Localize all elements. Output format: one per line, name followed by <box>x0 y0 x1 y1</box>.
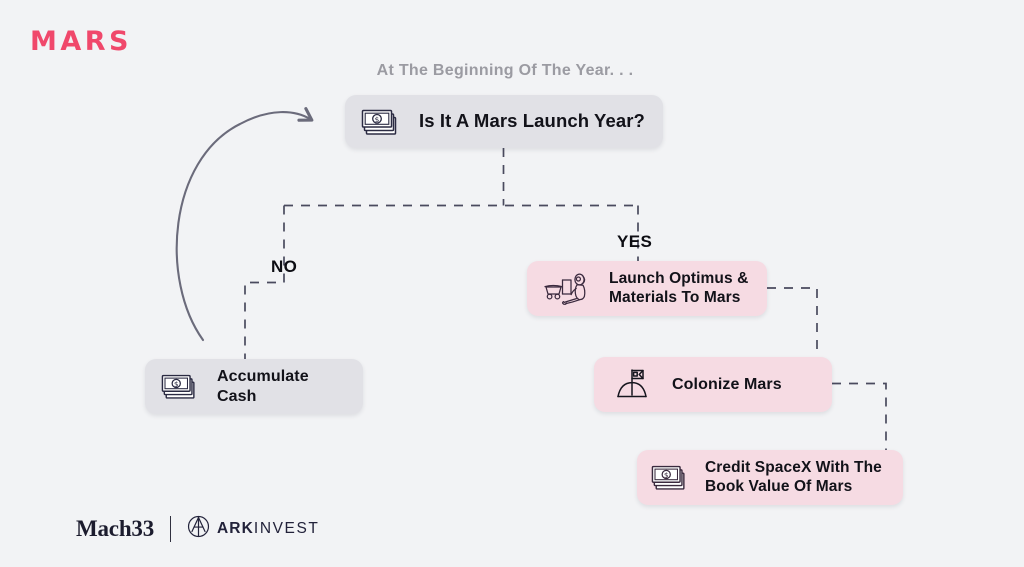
cash-stack-icon: $ <box>651 462 691 493</box>
node-label: Credit SpaceX With The Book Value Of Mar… <box>705 459 882 497</box>
footer-divider <box>170 516 171 542</box>
node-label: Accumulate Cash <box>217 367 347 406</box>
node-label: Launch Optimus & Materials To Mars <box>609 270 748 308</box>
diagram-canvas: MARS At The Beginning Of The Year. . . <box>0 0 1024 567</box>
brand-title: MARS <box>30 26 132 57</box>
node-accumulate-cash[interactable]: $ Accumulate Cash <box>145 359 363 414</box>
cash-stack-icon: $ <box>161 371 201 402</box>
node-credit-spacex-book-value-of-mars[interactable]: $ Credit SpaceX With The Book Value Of M… <box>637 450 903 505</box>
svg-text:$: $ <box>664 471 668 480</box>
node-label-line2: Materials To Mars <box>609 289 740 306</box>
wire-no-branch <box>245 206 284 360</box>
footer-logos: Mach33 ARKINVEST <box>76 514 320 544</box>
ark-invest-logo: ARKINVEST <box>187 515 319 543</box>
ark-circle-icon <box>187 515 210 543</box>
ark-word: ARK <box>217 520 254 537</box>
invest-word: INVEST <box>254 520 320 537</box>
branch-label-no: NO <box>271 257 297 277</box>
node-label: Is It A Mars Launch Year? <box>419 110 645 133</box>
node-is-it-a-mars-launch-year[interactable]: $ Is It A Mars Launch Year? <box>345 95 663 148</box>
node-label-line1: Credit SpaceX With The <box>705 459 882 476</box>
wire-feedback-arrow <box>177 112 310 340</box>
flag-on-planet-icon <box>612 365 654 405</box>
svg-text:$: $ <box>375 115 380 124</box>
svg-text:$: $ <box>174 380 178 389</box>
node-label: Colonize Mars <box>672 375 782 395</box>
branch-label-yes: YES <box>617 232 652 252</box>
node-label-line2: Book Value Of Mars <box>705 478 852 495</box>
ark-invest-wordmark: ARKINVEST <box>217 520 319 538</box>
wire-launch-to-colonize <box>767 288 817 357</box>
mach33-logo: Mach33 <box>76 516 154 542</box>
node-colonize-mars[interactable]: Colonize Mars <box>594 357 832 412</box>
cash-stack-icon: $ <box>361 106 403 138</box>
diagram-caption: At The Beginning Of The Year. . . <box>360 62 650 80</box>
node-launch-optimus-materials-to-mars[interactable]: Launch Optimus & Materials To Mars <box>527 261 767 316</box>
robot-cart-icon <box>541 269 595 309</box>
wire-colonize-to-credit <box>832 384 886 451</box>
node-label-line1: Launch Optimus & <box>609 270 748 287</box>
